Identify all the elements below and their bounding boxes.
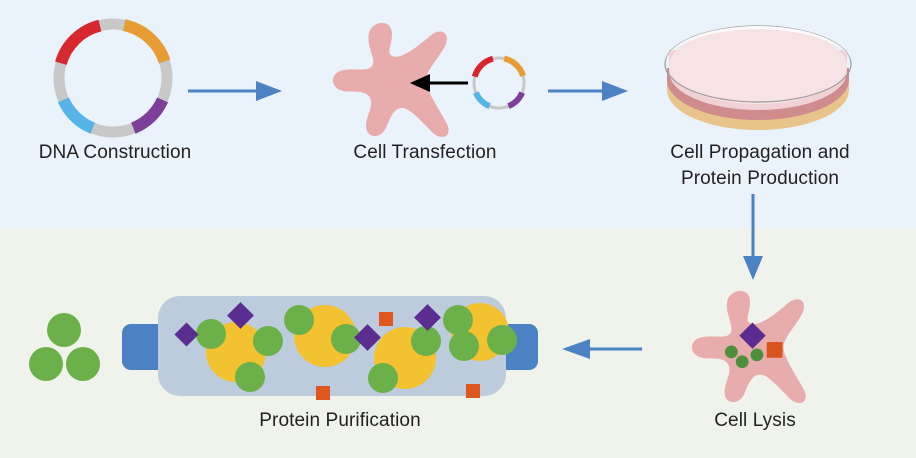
dna-construction-label: DNA Construction	[0, 140, 230, 166]
purified-protein-circle	[47, 313, 81, 347]
green-circle-protein	[751, 348, 764, 361]
cell-propagation-node[interactable]	[663, 24, 853, 130]
plasmid-small-icon	[466, 50, 532, 116]
plasmid-red-segment	[54, 26, 106, 64]
plasmid-small-purple-segment	[507, 93, 523, 107]
petri-dish-icon	[663, 24, 853, 130]
green-circle-protein	[235, 362, 265, 392]
dna-construction-node[interactable]	[38, 14, 188, 142]
green-circle-protein	[411, 326, 441, 356]
orange-square-protein	[767, 342, 783, 358]
arrow-right-icon	[548, 78, 630, 104]
arrow-plasmid-uptake	[410, 72, 470, 94]
plasmid-icon	[38, 14, 188, 142]
orange-square-protein	[316, 386, 330, 400]
purified-protein-circle	[66, 347, 100, 381]
chromatography-column-icon	[28, 296, 548, 396]
cell-body	[692, 291, 806, 403]
cell-propagation-label: Cell Propagation and Protein Production	[640, 140, 880, 192]
arrow-transfection-to-propagation	[548, 78, 630, 104]
orange-square-protein	[379, 312, 393, 326]
arrow-lysis-to-purification	[558, 336, 644, 362]
arrow-dna-to-transfection	[188, 78, 284, 104]
green-circle-protein	[284, 305, 314, 335]
green-circle-protein	[253, 326, 283, 356]
green-circle-protein	[443, 305, 473, 335]
protein-purification-label: Protein Purification	[230, 408, 450, 434]
cell-transfection-label: Cell Transfection	[310, 140, 540, 166]
arrow-left-icon	[558, 336, 644, 362]
green-circle-protein	[368, 363, 398, 393]
arrow-left-black-icon	[410, 72, 470, 94]
cell-lysis-node[interactable]	[688, 286, 818, 406]
plasmid-purple-segment	[131, 100, 165, 128]
plasmid-blue-segment	[61, 100, 95, 128]
arrow-right-icon	[188, 78, 284, 104]
arrow-down-icon	[740, 194, 766, 282]
cell-lysis-label: Cell Lysis	[650, 408, 860, 434]
workflow-diagram: DNA Construction Cell T	[0, 0, 916, 458]
transfection-plasmid-node	[466, 50, 532, 116]
green-circle-protein	[487, 325, 517, 355]
arrow-propagation-to-lysis	[740, 194, 766, 282]
plasmid-small-red-segment	[472, 59, 496, 77]
green-circle-protein	[449, 331, 479, 361]
green-circle-protein	[725, 346, 738, 359]
lysed-cell-icon	[688, 286, 818, 406]
purified-protein-circle	[29, 347, 63, 381]
green-circle-protein	[736, 355, 749, 368]
orange-square-protein	[466, 384, 480, 398]
protein-purification-node[interactable]	[28, 296, 548, 396]
green-circle-protein	[196, 319, 226, 349]
plasmid-orange-segment	[119, 25, 171, 61]
plasmid-small-blue-segment	[475, 93, 491, 107]
plasmid-small-orange-segment	[501, 59, 525, 76]
